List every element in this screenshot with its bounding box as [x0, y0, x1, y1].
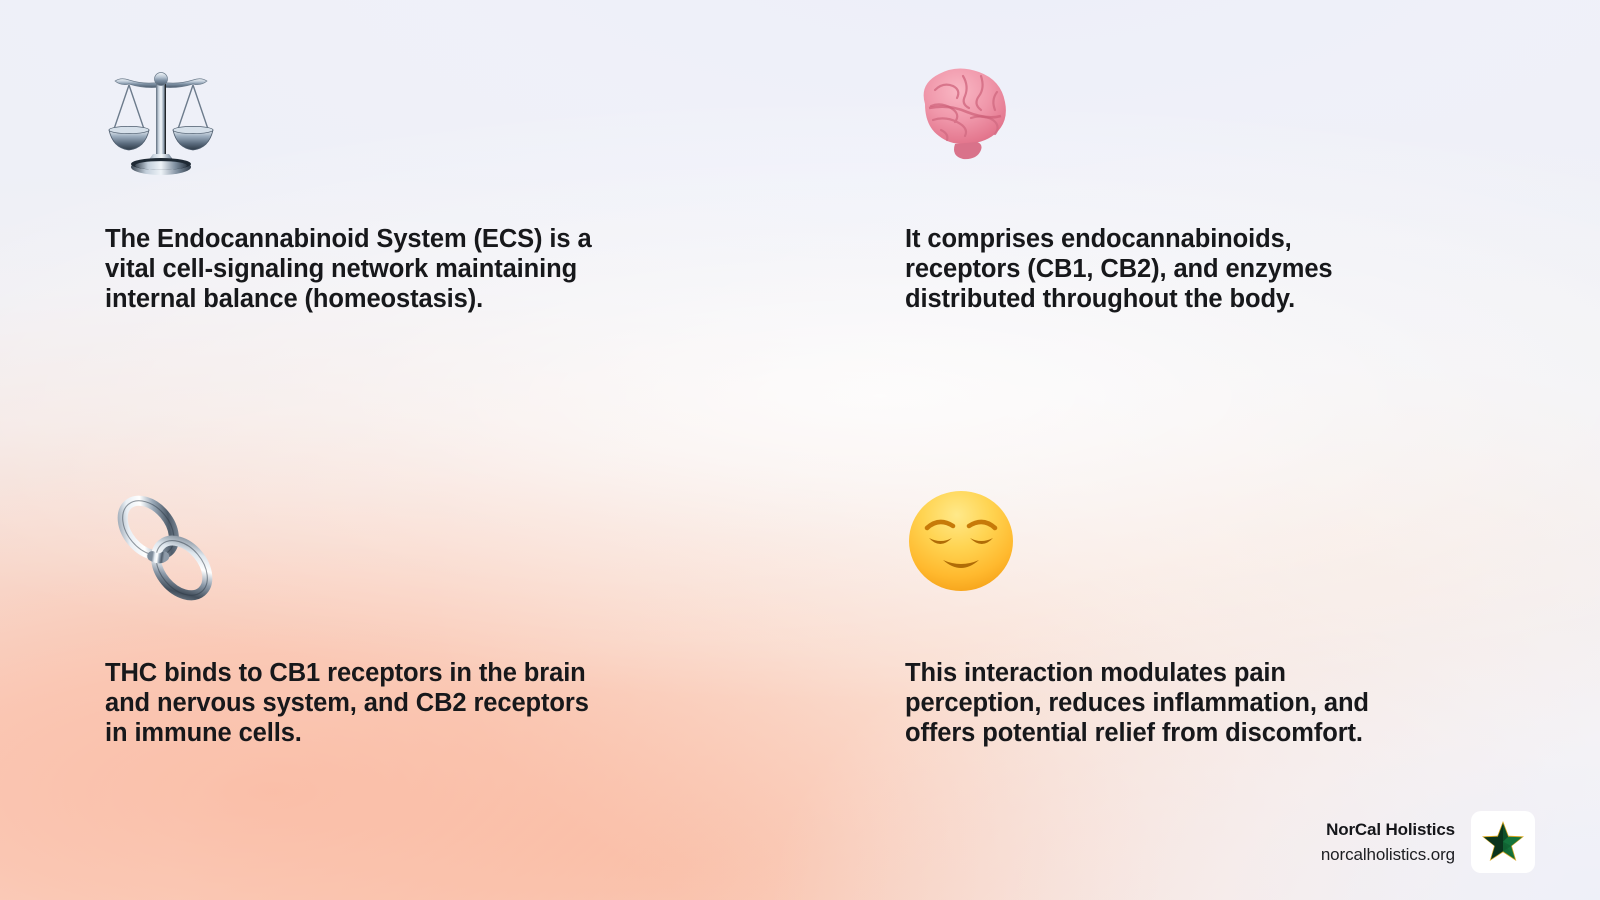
panel-therapeutic-effect: This interaction modulates pain percepti… — [905, 488, 1545, 748]
panel-thc-binding: THC binds to CB1 receptors in the brain … — [105, 488, 745, 748]
chain-links-icon — [105, 488, 745, 608]
panel-ecs-definition: The Endocannabinoid System (ECS) is a vi… — [105, 60, 745, 314]
panel-ecs-components: It comprises endocannabinoids, receptors… — [905, 60, 1545, 314]
brand-name: NorCal Holistics — [1321, 818, 1455, 841]
green-star-logo-icon — [1480, 819, 1526, 865]
brand-footer: NorCal Holistics norcalholistics.org — [1321, 811, 1535, 873]
panel-body-text: This interaction modulates pain percepti… — [905, 658, 1465, 748]
panel-body-text: It comprises endocannabinoids, receptors… — [905, 224, 1465, 314]
infographic-canvas: The Endocannabinoid System (ECS) is a vi… — [0, 0, 1600, 900]
brand-text-block: NorCal Holistics norcalholistics.org — [1321, 818, 1455, 866]
panel-body-text: THC binds to CB1 receptors in the brain … — [105, 658, 745, 748]
panel-grid: The Endocannabinoid System (ECS) is a vi… — [0, 0, 1600, 900]
brand-url[interactable]: norcalholistics.org — [1321, 843, 1455, 866]
panel-body-text: The Endocannabinoid System (ECS) is a vi… — [105, 224, 745, 314]
brain-icon — [905, 60, 1545, 180]
balance-scale-icon — [105, 60, 745, 180]
relieved-face-icon — [905, 488, 1545, 608]
brand-logo-badge[interactable] — [1471, 811, 1535, 873]
